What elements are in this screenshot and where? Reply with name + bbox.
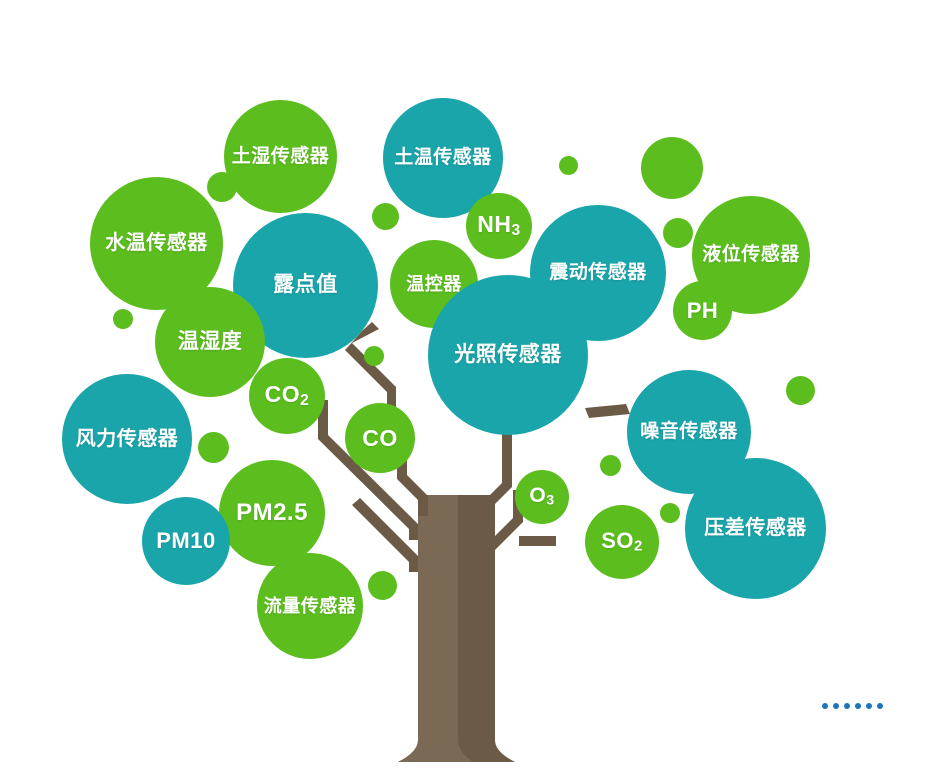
branch-right-so2-arm	[519, 536, 556, 546]
bubble-light-sensor[interactable]: 光照传感器	[428, 275, 588, 435]
branch-noise-connector	[585, 404, 630, 418]
bubble-label: 流量传感器	[260, 597, 361, 616]
branch-left-mid	[352, 498, 418, 572]
bubble-pm25-sensor[interactable]: PM2.5	[219, 460, 325, 566]
ellipsis-dot	[877, 703, 883, 709]
sensor-tree-infographic: 土湿传感器土温传感器水温传感器露点值温湿度NH3温控器震动传感器光照传感器液位传…	[0, 0, 930, 771]
bubble-soil-moisture-sensor[interactable]: 土湿传感器	[224, 100, 337, 213]
bubble-label-subscript: 2	[634, 538, 643, 555]
bubble-label: 温湿度	[174, 331, 247, 353]
bubble-pm10-sensor[interactable]: PM10	[142, 497, 230, 585]
bubble-wind-sensor[interactable]: 风力传感器	[62, 374, 192, 504]
ellipsis-dot	[822, 703, 828, 709]
bubble-label-subscript: 2	[300, 392, 309, 409]
bubble-differential-pressure-sensor[interactable]: 压差传感器	[685, 458, 826, 599]
bubble-carbon-dioxide-co2[interactable]: CO2	[249, 358, 325, 434]
accent-dot-12	[660, 503, 680, 523]
bubble-label: 水温传感器	[101, 233, 212, 254]
bubble-label: PM2.5	[232, 500, 312, 525]
branch-right-upper	[485, 432, 512, 520]
bubble-label: NH3	[473, 212, 524, 239]
accent-dot-3	[559, 156, 578, 175]
accent-dot-6	[786, 376, 815, 405]
bubble-label: 噪音传感器	[636, 422, 742, 442]
bubble-label: PM10	[152, 529, 219, 552]
bubble-label: 温控器	[402, 275, 466, 294]
bubble-label-subscript: 3	[546, 493, 554, 509]
accent-dot-7	[364, 346, 384, 366]
ellipsis-dot	[844, 703, 850, 709]
accent-dot-4	[641, 137, 703, 199]
bubble-label: SO2	[597, 529, 647, 554]
bubble-label: 光照传感器	[450, 344, 566, 366]
bubble-ph-value[interactable]: PH	[673, 281, 732, 340]
bubble-label: 压差传感器	[700, 518, 811, 539]
bubble-ammonia-nh3[interactable]: NH3	[466, 193, 532, 259]
bubble-label: O3	[525, 485, 558, 509]
bubble-label: 风力传感器	[72, 429, 183, 450]
accent-dot-11	[600, 455, 621, 476]
ellipsis-dot	[855, 703, 861, 709]
bubble-ozone-o3[interactable]: O3	[515, 470, 569, 524]
accent-dot-2	[372, 203, 399, 230]
accent-dot-8	[198, 432, 229, 463]
accent-dot-10	[368, 571, 397, 600]
bubble-sulfur-dioxide-so2[interactable]: SO2	[585, 505, 659, 579]
bubble-temperature-humidity[interactable]: 温湿度	[155, 287, 265, 397]
bubble-label: CO2	[261, 382, 314, 409]
ellipsis-dot	[833, 703, 839, 709]
accent-dot-5	[663, 218, 693, 248]
ellipsis-indicator	[822, 703, 883, 709]
bubble-label: 露点值	[269, 274, 342, 296]
bubble-label: PH	[683, 299, 723, 322]
bubble-label: 土温传感器	[390, 148, 496, 168]
ellipsis-dot	[866, 703, 872, 709]
accent-dot-9	[113, 309, 133, 329]
bubble-flow-sensor[interactable]: 流量传感器	[257, 553, 363, 659]
bubble-label: CO	[358, 426, 402, 450]
bubble-label: 液位传感器	[698, 245, 804, 265]
bubble-carbon-monoxide-co[interactable]: CO	[345, 403, 415, 473]
bubble-label-subscript: 3	[512, 222, 521, 239]
bubble-label: 土湿传感器	[228, 147, 334, 167]
bubble-label: 震动传感器	[545, 263, 651, 283]
